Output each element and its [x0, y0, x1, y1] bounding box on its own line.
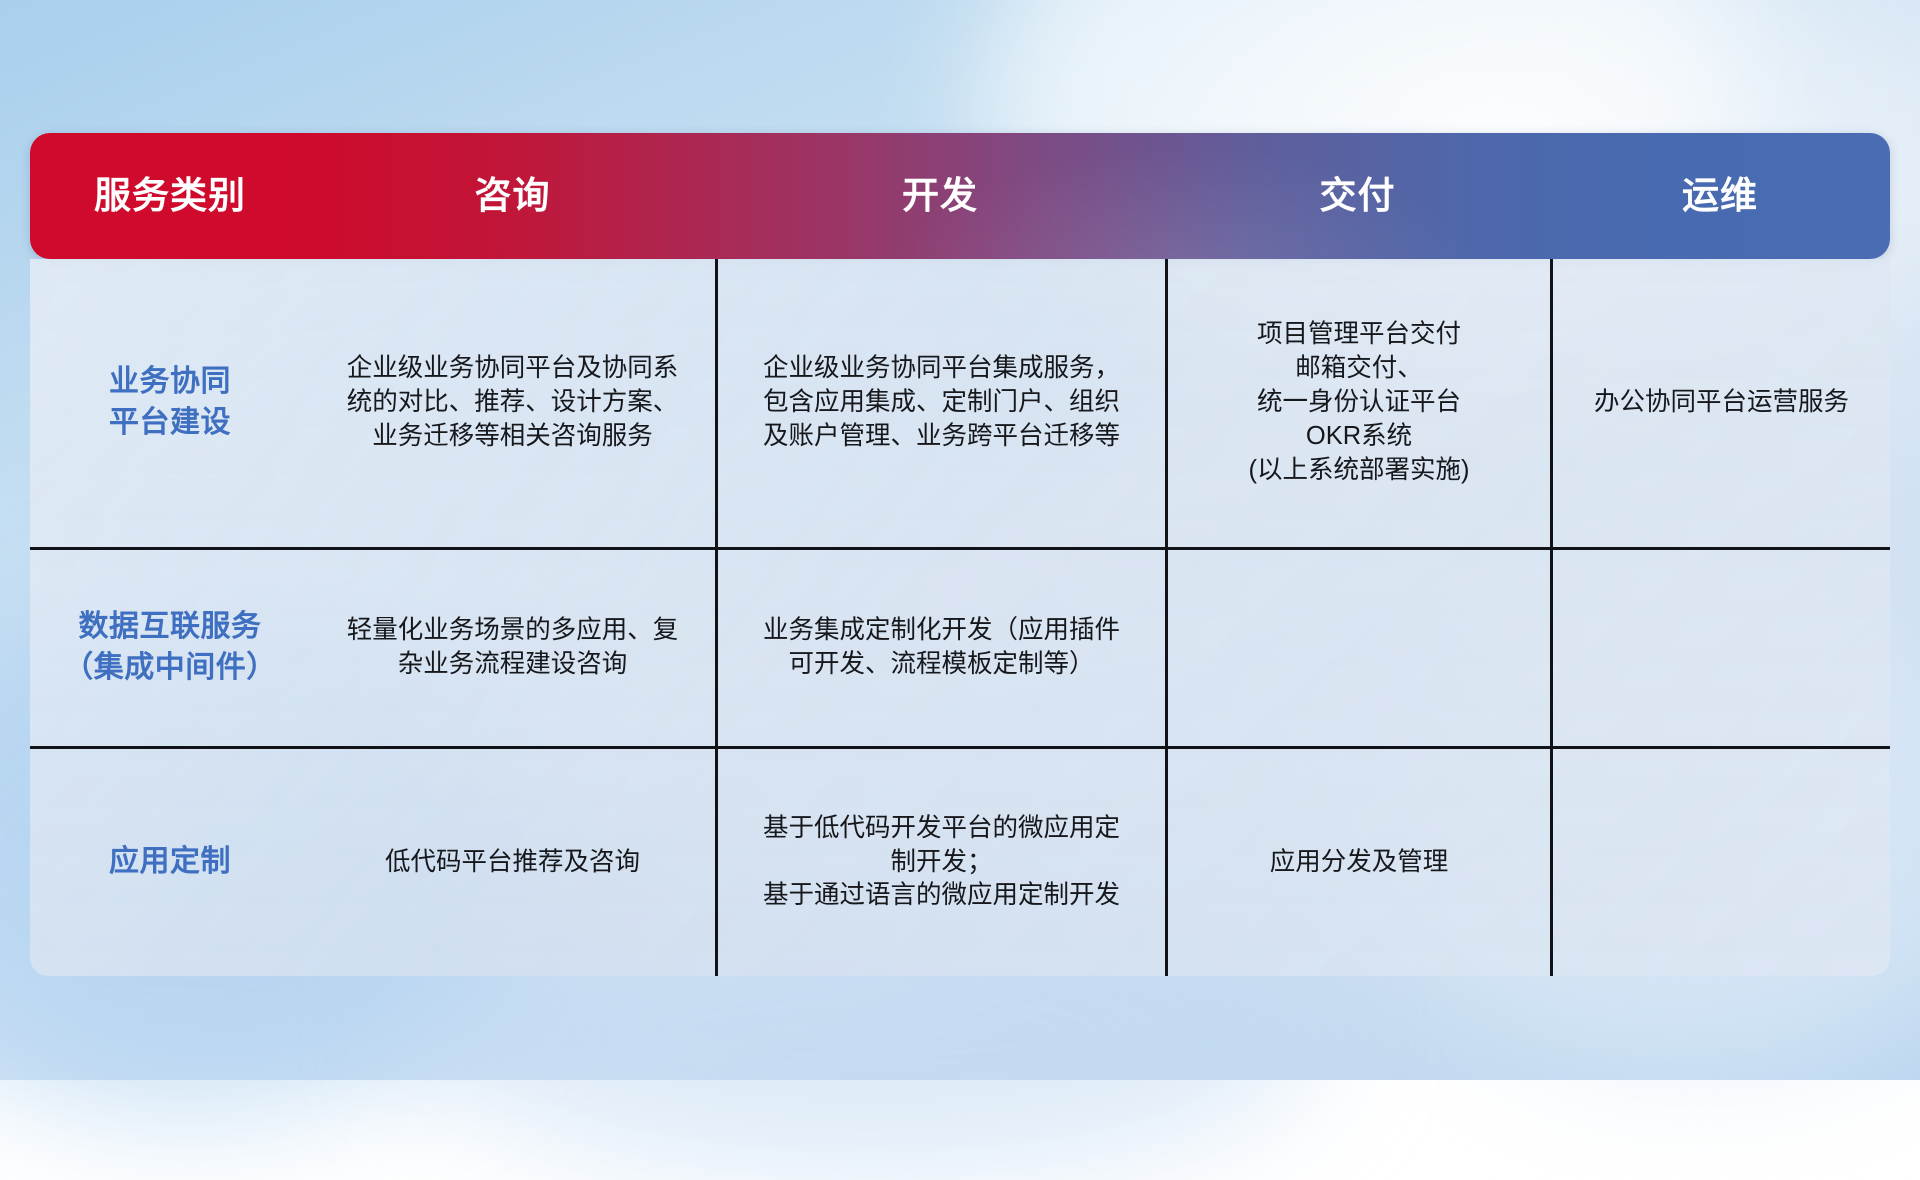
cell-consulting: 企业级业务协同平台及协同系 统的对比、推荐、设计方案、 业务迁移等相关咨询服务	[310, 259, 715, 547]
table-row: 应用定制 低代码平台推荐及咨询 基于低代码开发平台的微应用定 制开发； 基于通过…	[30, 746, 1890, 976]
row-category-label: 应用定制	[30, 749, 310, 976]
cell-delivery: 项目管理平台交付 邮箱交付、 统一身份认证平台 OKR系统 (以上系统部署实施)	[1165, 259, 1550, 547]
column-header-category: 服务类别	[30, 176, 310, 217]
table-row: 业务协同 平台建设 企业级业务协同平台及协同系 统的对比、推荐、设计方案、 业务…	[30, 259, 1890, 547]
cell-delivery: 应用分发及管理	[1165, 749, 1550, 976]
cell-delivery	[1165, 550, 1550, 746]
table-row: 数据互联服务 （集成中间件） 轻量化业务场景的多应用、复 杂业务流程建设咨询 业…	[30, 547, 1890, 746]
cell-development: 业务集成定制化开发（应用插件 可开发、流程模板定制等）	[715, 550, 1165, 746]
table-body: 业务协同 平台建设 企业级业务协同平台及协同系 统的对比、推荐、设计方案、 业务…	[30, 259, 1890, 976]
table-header-row: 服务类别 咨询 开发 交付 运维	[30, 133, 1890, 259]
cell-consulting: 低代码平台推荐及咨询	[310, 749, 715, 976]
cell-operations	[1550, 749, 1890, 976]
column-header-consulting: 咨询	[310, 176, 715, 217]
row-category-label: 业务协同 平台建设	[30, 259, 310, 547]
column-header-development: 开发	[715, 176, 1165, 217]
slide-canvas: 服务类别 咨询 开发 交付 运维 业务协同 平台建设 企业级业务协同平台及协同系…	[0, 0, 1920, 1080]
cell-development: 企业级业务协同平台集成服务， 包含应用集成、定制门户、组织 及账户管理、业务跨平…	[715, 259, 1165, 547]
service-matrix-table: 服务类别 咨询 开发 交付 运维 业务协同 平台建设 企业级业务协同平台及协同系…	[30, 133, 1890, 953]
column-header-operations: 运维	[1550, 176, 1890, 217]
row-category-label: 数据互联服务 （集成中间件）	[30, 550, 310, 746]
cell-development: 基于低代码开发平台的微应用定 制开发； 基于通过语言的微应用定制开发	[715, 749, 1165, 976]
cell-consulting: 轻量化业务场景的多应用、复 杂业务流程建设咨询	[310, 550, 715, 746]
column-header-delivery: 交付	[1165, 176, 1550, 217]
cell-operations: 办公协同平台运营服务	[1550, 259, 1890, 547]
cell-operations	[1550, 550, 1890, 746]
